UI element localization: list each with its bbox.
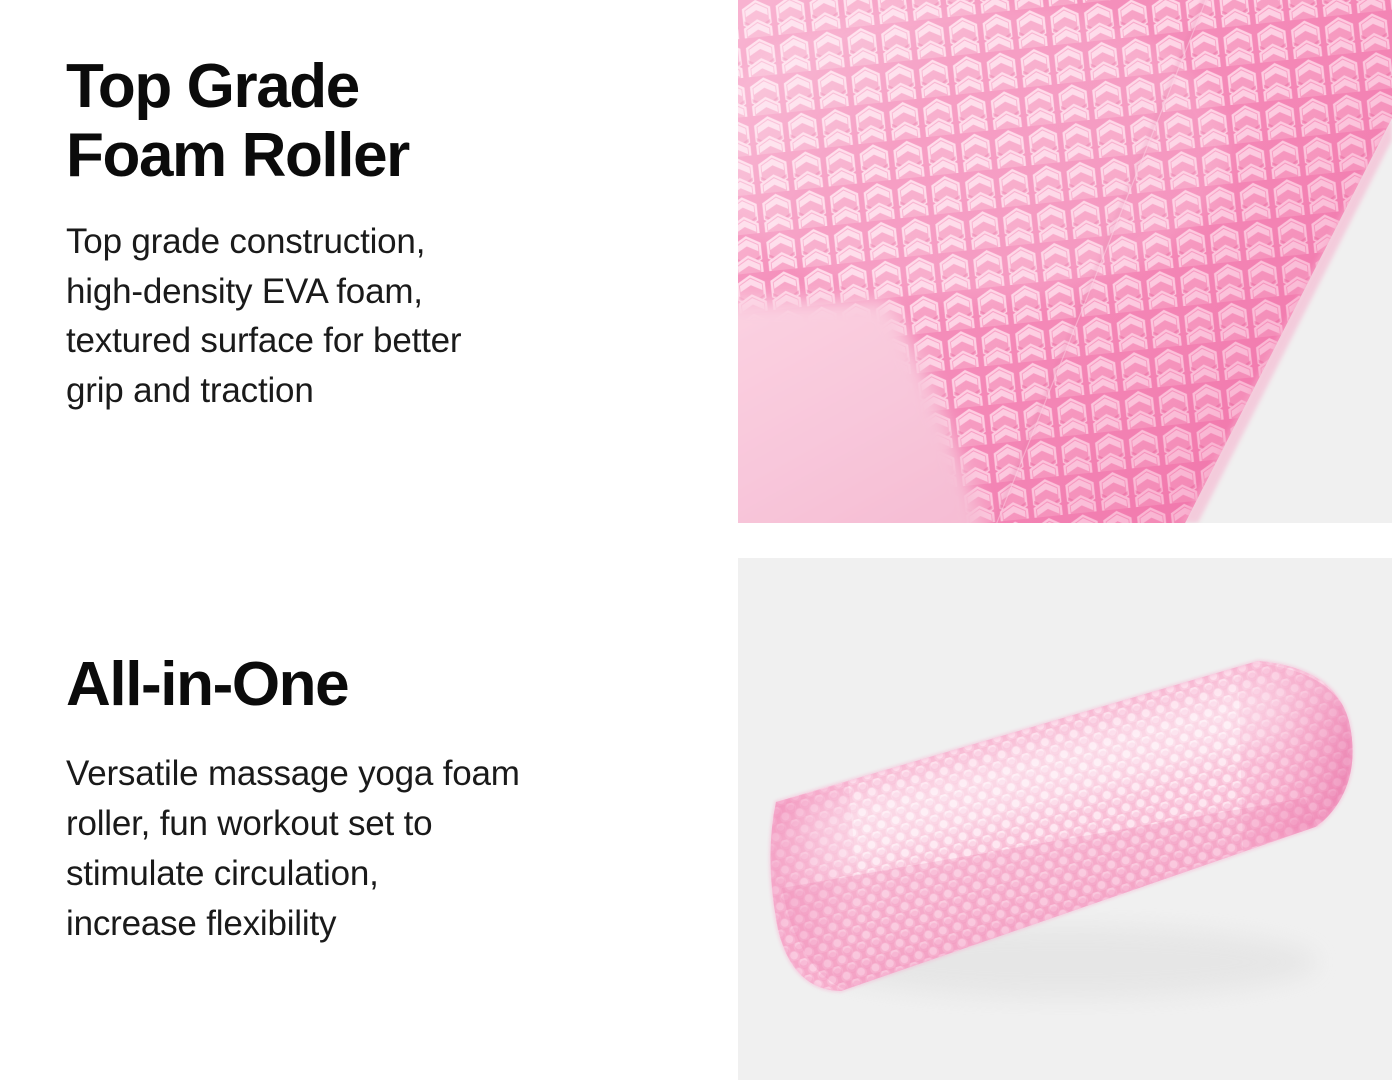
feature-image-top-grade-foam-roller: [738, 0, 1392, 523]
feature-image-all-in-one: [738, 558, 1392, 1080]
feature-block-all-in-one: All-in-One Versatile massage yoga foam r…: [66, 650, 686, 948]
foam-roller-full-product-illustration: [738, 558, 1392, 1080]
foam-roller-hex-texture-macro-illustration: [738, 0, 1392, 523]
feature-description: Versatile massage yoga foam roller, fun …: [66, 749, 686, 948]
feature-headline: All-in-One: [66, 650, 686, 719]
product-feature-page: Top Grade Foam Roller Top grade construc…: [0, 0, 1392, 1080]
feature-headline: Top Grade Foam Roller: [66, 52, 686, 191]
feature-description: Top grade construction, high-density EVA…: [66, 217, 686, 416]
feature-block-top-grade-foam-roller: Top Grade Foam Roller Top grade construc…: [66, 52, 686, 416]
text-column: Top Grade Foam Roller Top grade construc…: [0, 0, 738, 1080]
